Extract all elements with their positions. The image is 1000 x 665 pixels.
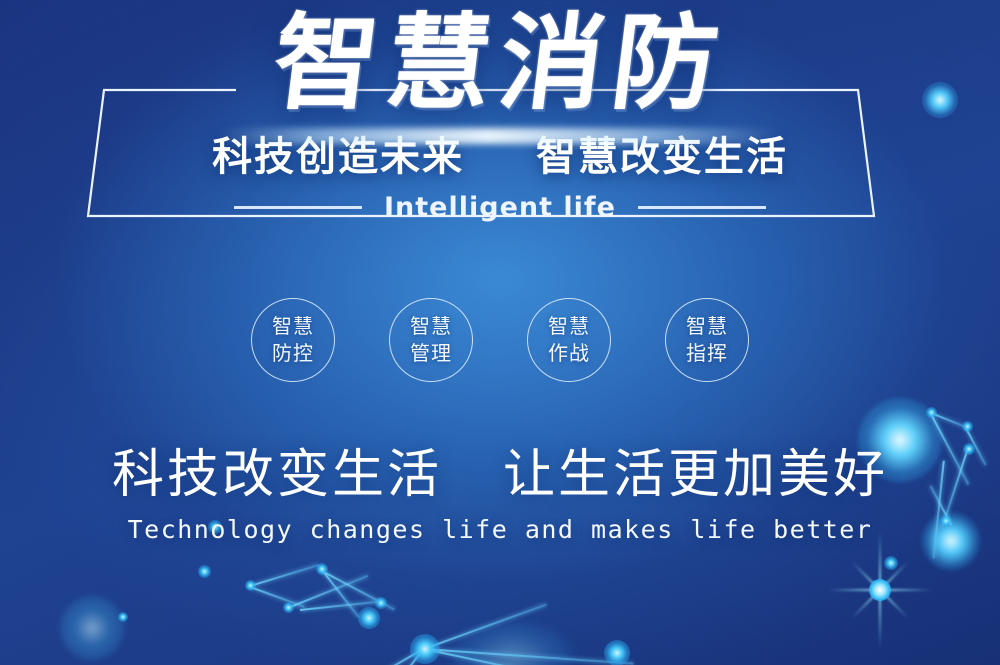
circle-label-line2: 作战 [548, 340, 590, 367]
circle-label-line1: 智慧 [272, 313, 314, 340]
slogan-cn-right: 让生活更加美好 [503, 445, 888, 505]
circle-label-line2: 防控 [272, 340, 314, 367]
feature-circle-fangkong[interactable]: 智慧 防控 [251, 298, 335, 382]
bottom-slogan: 科技改变生活 让生活更加美好 Technology changes life a… [0, 432, 1000, 544]
feature-circle-guanli[interactable]: 智慧 管理 [389, 298, 473, 382]
english-tagline-row: Intelligent life [0, 192, 1000, 223]
circle-label-line1: 智慧 [410, 313, 452, 340]
english-tagline: Intelligent life [384, 192, 616, 223]
starburst-icon [820, 530, 940, 650]
poster-canvas: 智慧消防 科技创造未来 智慧改变生活 Intelligent life 智慧 防… [0, 0, 1000, 665]
feature-circle-row: 智慧 防控 智慧 管理 智慧 作战 智慧 指挥 [0, 298, 1000, 382]
sub-title: 科技创造未来 智慧改变生活 [0, 124, 1000, 182]
tagline-rule-right [638, 206, 766, 209]
sub-title-left: 科技创造未来 [212, 134, 464, 180]
sub-title-right: 智慧改变生活 [536, 134, 788, 180]
circle-label-line2: 管理 [410, 340, 452, 367]
glow-node-bottom-left-small [118, 612, 128, 622]
circle-label-line1: 智慧 [548, 313, 590, 340]
feature-circle-zuozhan[interactable]: 智慧 作战 [527, 298, 611, 382]
tagline-rule-left [234, 206, 362, 209]
glow-node-top-right-small [884, 556, 898, 570]
glow-blob-bottom-center [452, 622, 572, 665]
circle-label-line1: 智慧 [686, 313, 728, 340]
feature-circle-zhihui[interactable]: 智慧 指挥 [665, 298, 749, 382]
slogan-english: Technology changes life and makes life b… [0, 515, 1000, 544]
glow-blob-left-lower [60, 596, 124, 660]
circle-label-line2: 指挥 [686, 340, 728, 367]
poster-header: 智慧消防 科技创造未来 智慧改变生活 Intelligent life [0, 8, 1000, 223]
slogan-cn-left: 科技改变生活 [112, 445, 442, 505]
page-title: 智慧消防 [267, 8, 733, 118]
slogan-chinese: 科技改变生活 让生活更加美好 [0, 432, 1000, 507]
